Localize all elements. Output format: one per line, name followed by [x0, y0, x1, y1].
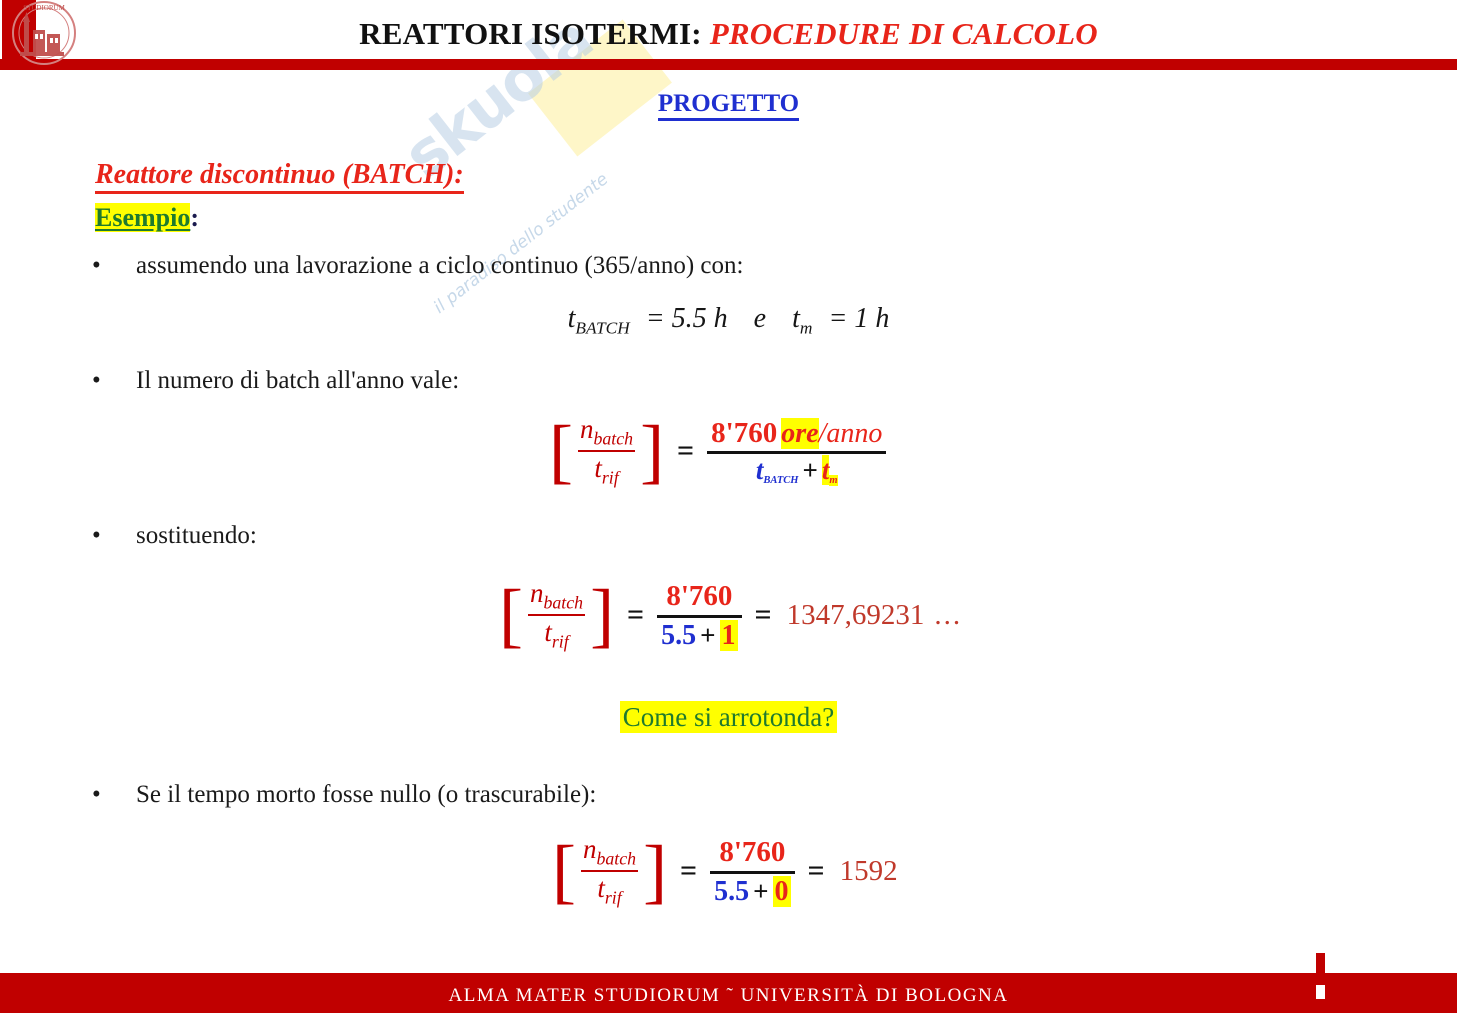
section-heading-label: PROGETTO	[658, 90, 799, 121]
bracket-close: ]	[640, 422, 664, 481]
rounding-question: Come si arrotonda?	[0, 702, 1457, 733]
fraction-denominator: trif	[595, 872, 623, 908]
fraction-numerator: nbatch	[528, 578, 585, 614]
header-rule	[0, 59, 1457, 70]
fraction-numerator: nbatch	[578, 414, 635, 450]
bracket-open: [	[549, 422, 573, 481]
list-item-label: Il numero di batch all'anno vale:	[136, 367, 459, 395]
n-symbol: n	[583, 834, 597, 864]
bracket-close: ]	[643, 842, 667, 901]
bracket-close: ]	[590, 586, 614, 645]
den-t-m-subscript: m	[829, 475, 837, 486]
list-item-label: sostituendo:	[136, 522, 257, 550]
equals-sign: =	[667, 854, 710, 888]
bullet-icon: •	[92, 252, 101, 280]
t-symbol: t	[544, 617, 552, 647]
den-left-value: 5.5	[714, 876, 749, 907]
fraction-denominator: trif	[592, 452, 620, 488]
subtitle-reattore-batch: Reattore discontinuo (BATCH):	[95, 159, 464, 194]
fraction-denominator: trif	[542, 616, 570, 652]
bullet-icon: •	[92, 367, 101, 395]
equals-sign: =	[614, 598, 657, 632]
conjunction-e: e	[754, 303, 766, 334]
fraction-nbatch-trif: nbatch trif	[573, 414, 640, 489]
bullet-icon: •	[92, 522, 101, 550]
example-label-colon: :	[190, 203, 199, 232]
den-plus-sign: +	[749, 876, 772, 906]
page-title-main: REATTORI ISOTERMI:	[359, 16, 702, 51]
equals-sign-2: =	[742, 598, 785, 632]
n-subscript: batch	[543, 592, 583, 612]
example-label-text: Esempio	[95, 203, 190, 232]
result-ellipsis: ...	[924, 599, 962, 631]
n-symbol: n	[530, 578, 544, 608]
rhs-denominator: 5.5+0	[710, 874, 794, 909]
den-t-batch-subscript: BATCH	[763, 475, 798, 486]
unit-per-anno: /anno	[819, 418, 883, 449]
equation-given-times: tBATCH= 5.5 hetm= 1 h	[0, 303, 1457, 339]
list-item-label: Se il tempo morto fosse nullo (o trascur…	[136, 781, 596, 809]
fraction-nbatch-trif: nbatch trif	[523, 578, 590, 653]
equals-sign-2: =	[795, 854, 838, 888]
t-batch-value: = 5.5 h	[646, 303, 728, 334]
den-left-value: 5.5	[661, 620, 696, 651]
hours-per-year-value: 8'760	[719, 836, 785, 868]
t-m-subscript: m	[800, 319, 813, 338]
rhs-numerator: 8'760	[662, 578, 736, 614]
t-batch-subscript: BATCH	[575, 319, 629, 338]
result-value: 1347,69231	[787, 599, 925, 631]
bracket-group: [ nbatch trif ]	[552, 834, 667, 909]
n-symbol: n	[580, 414, 594, 444]
fraction-nbatch-trif: nbatch trif	[576, 834, 643, 909]
t-m-value: = 1 h	[828, 303, 889, 334]
example-label: Esempio:	[95, 203, 199, 233]
bracket-open: [	[499, 586, 523, 645]
unit-ore: ore	[781, 418, 818, 449]
hours-per-year-value: 8'760	[666, 580, 732, 612]
result-value: 1592	[838, 855, 898, 888]
list-item-label: assumendo una lavorazione a ciclo contin…	[136, 252, 743, 280]
page-title-accent: PROCEDURE DI CALCOLO	[710, 16, 1098, 51]
rounding-question-label: Come si arrotonda?	[620, 701, 837, 733]
result-value-wrapper: 1347,69231...	[785, 599, 963, 632]
t-symbol: t	[594, 453, 602, 483]
den-right-value: 1	[720, 620, 738, 651]
section-heading: PROGETTO	[0, 90, 1457, 118]
t-m-symbol: t	[792, 303, 800, 334]
footer-label: ALMA MATER STUDIORUM ˜ UNIVERSITÀ DI BOL…	[0, 985, 1457, 1007]
bracket-group: [ nbatch trif ]	[499, 578, 614, 653]
right-hand-fraction: 8'760 ore/anno tBATCH+tm	[707, 415, 886, 488]
equation-nbatch-substituted: [ nbatch trif ] = 8'760 5.5+1 = 1347,692…	[499, 578, 962, 653]
t-subscript: rif	[602, 468, 619, 488]
footer-accent-notch	[1316, 985, 1325, 999]
t-subscript: rif	[605, 888, 622, 908]
right-hand-fraction: 8'760 5.5+1	[657, 578, 741, 652]
equation-nbatch-general: [ nbatch trif ] = 8'760 ore/anno tBATCH+…	[549, 414, 886, 489]
bullet-icon: •	[92, 781, 101, 809]
hours-per-year-value: 8'760	[711, 417, 777, 449]
footer-accent-mark	[1316, 953, 1325, 987]
rhs-numerator: 8'760	[715, 834, 789, 870]
rhs-denominator: 5.5+1	[657, 618, 741, 653]
bracket-open: [	[552, 842, 576, 901]
t-symbol: t	[597, 873, 605, 903]
n-subscript: batch	[593, 428, 633, 448]
rhs-denominator: tBATCH+tm	[752, 454, 842, 488]
equation-nbatch-zero-dead-time: [ nbatch trif ] = 8'760 5.5+0 = 1592	[552, 834, 898, 909]
n-subscript: batch	[596, 848, 636, 868]
rhs-numerator: 8'760 ore/anno	[707, 415, 886, 451]
t-subscript: rif	[552, 632, 569, 652]
equals-sign: =	[664, 434, 707, 468]
den-plus-sign: +	[799, 455, 822, 485]
den-plus-sign: +	[696, 620, 719, 650]
page-title: REATTORI ISOTERMI: PROCEDURE DI CALCOLO	[0, 16, 1457, 52]
right-hand-fraction: 8'760 5.5+0	[710, 834, 794, 908]
den-right-value: 0	[773, 876, 791, 907]
svg-text:STUDIORUM: STUDIORUM	[23, 4, 65, 12]
slide: skuola il paradiso dello studente STUDIO…	[0, 0, 1457, 1013]
fraction-numerator: nbatch	[581, 834, 638, 870]
university-seal-logo: STUDIORUM	[2, 0, 78, 72]
bracket-group: [ nbatch trif ]	[549, 414, 664, 489]
